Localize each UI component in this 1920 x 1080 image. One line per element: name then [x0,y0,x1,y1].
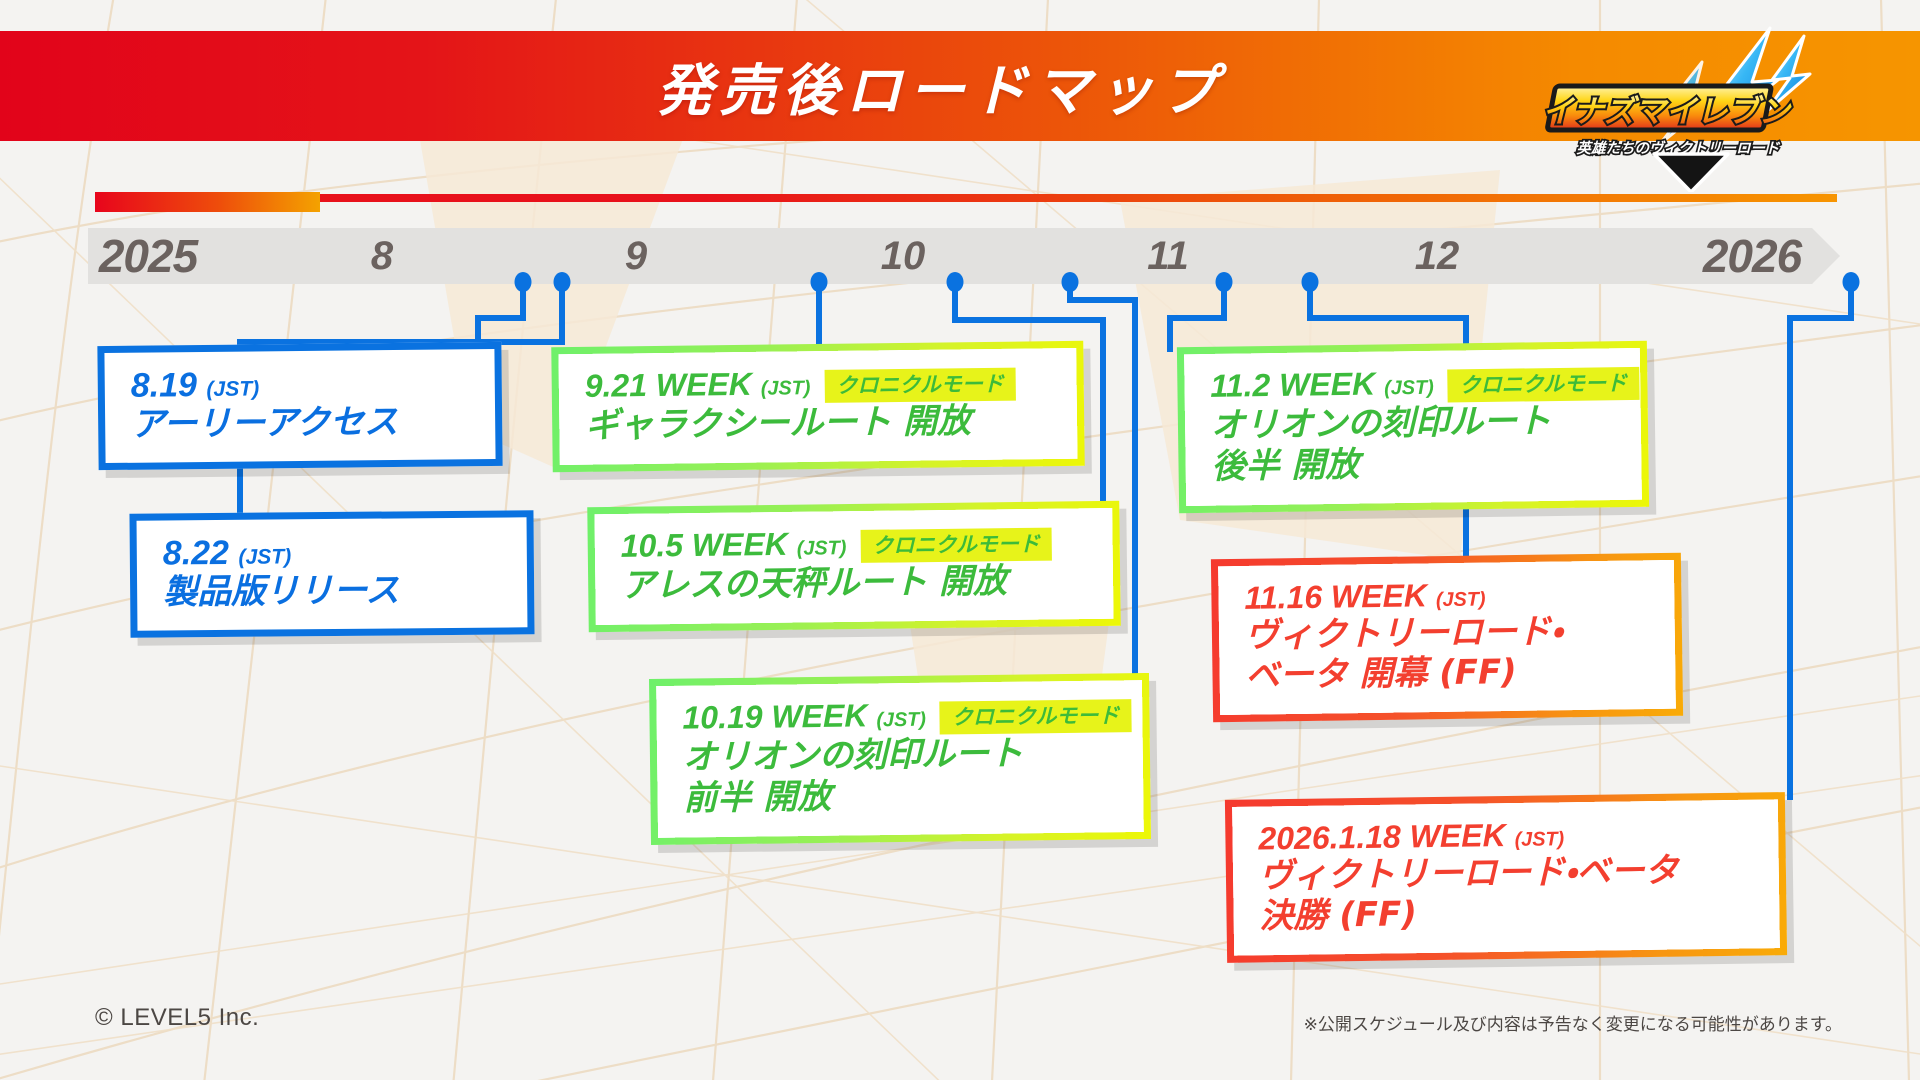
milestone-date-value: 2026.1.18 WEEK [1258,817,1506,856]
milestone-title: ヴィクトリーロード・ベータ 決勝 (FF) [1259,849,1754,937]
milestone-timezone-label: (JST) [1384,377,1434,400]
milestone-header-row: 10.5 WEEK (JST)クロニクルモード [621,524,1087,566]
milestone-timezone-label: (JST) [238,545,291,568]
chronicle-mode-badge: クロニクルモード [1447,367,1639,403]
milestone-date: 8.19 (JST) [131,367,260,404]
milestone-timezone-label: (JST) [1514,828,1564,851]
milestone-header-row: 9.21 WEEK (JST)クロニクルモード [585,364,1051,406]
axis-label-12: 12 [1415,236,1460,276]
milestone-card-orion-route-second-half: 11.2 WEEK (JST)クロニクルモードオリオンの刻印ルート 後半 開放 [1177,341,1649,513]
milestone-date: 2026.1.18 WEEK (JST) [1258,818,1564,856]
inazuma-eleven-victory-road-logo: イナズマイレブン イナズマイレブン 英雄たちのヴィクトリーロード [1542,22,1842,192]
axis-label-11: 11 [1147,236,1189,276]
axis-label-2025: 2025 [99,233,197,279]
milestone-date-value: 10.5 WEEK [621,526,789,564]
milestone-date: 9.21 WEEK (JST) [585,367,811,403]
milestone-title: ギャラクシールート 開放 [585,400,1051,446]
milestone-header-row: 11.2 WEEK (JST)クロニクルモード [1210,364,1614,406]
milestone-card-ares-route: 10.5 WEEK (JST)クロニクルモードアレスの天秤ルート 開放 [587,501,1120,633]
disclaimer-text: ※公開スケジュール及び内容は予告なく変更になる可能性があります。 [1304,1010,1842,1035]
milestone-date-value: 8.22 [163,534,230,573]
milestone-date: 8.22 (JST) [163,535,292,572]
milestone-timezone-label: (JST) [797,537,847,560]
milestone-date-value: 11.2 WEEK [1210,366,1375,404]
milestone-title: アーリーアクセス [131,401,469,445]
chronicle-mode-badge: クロニクルモード [824,368,1016,404]
accent-bar-line [95,194,1837,202]
milestone-timezone-label: (JST) [206,377,259,401]
chronicle-mode-badge: クロニクルモード [940,699,1132,735]
timeline-axis-bar [88,228,1840,284]
milestone-header-row: 11.16 WEEK (JST) [1244,576,1648,615]
milestone-date-value: 8.19 [131,366,198,405]
milestone-card-early-access: 8.19 (JST)アーリーアクセス [97,342,502,471]
milestone-date: 10.5 WEEK (JST) [621,527,847,563]
axis-label-8: 8 [371,236,393,276]
milestone-timezone-label: (JST) [876,709,926,732]
timeline-axis: 2025891011122026 [88,228,1840,284]
milestone-header-row: 8.19 (JST) [131,365,469,404]
milestone-card-victory-road-beta-open: 11.16 WEEK (JST)ヴィクトリーロード・ ベータ 開幕 (FF) [1211,553,1683,723]
milestone-date-value: 11.16 WEEK [1244,577,1427,616]
milestone-card-galaxy-route: 9.21 WEEK (JST)クロニクルモードギャラクシールート 開放 [551,341,1084,473]
milestone-date: 11.16 WEEK (JST) [1244,578,1486,615]
logo-main-text: イナズマイレブン [1542,94,1791,130]
milestone-title: ヴィクトリーロード・ ベータ 開幕 (FF) [1245,610,1650,697]
milestone-title: オリオンの刻印ルート 前半 開放 [683,733,1118,820]
chronicle-mode-badge: クロニクルモード [860,528,1052,564]
milestone-timezone-label: (JST) [761,377,811,400]
milestone-date-value: 10.19 WEEK [682,697,867,735]
milestone-date-value: 9.21 WEEK [585,366,753,404]
milestone-date: 10.19 WEEK (JST) [682,699,926,736]
milestone-header-row: 8.22 (JST) [163,534,501,573]
milestone-timezone-label: (JST) [1436,588,1486,611]
axis-label-9: 9 [625,236,647,276]
milestone-title: オリオンの刻印ルート 後半 開放 [1211,400,1616,487]
milestone-date: 11.2 WEEK (JST) [1210,367,1434,404]
copyright-text: © LEVEL5 Inc. [95,1004,259,1032]
milestone-title: 製品版リリース [163,569,501,613]
milestone-card-victory-road-beta-final: 2026.1.18 WEEK (JST)ヴィクトリーロード・ベータ 決勝 (FF… [1225,792,1787,963]
axis-label-10: 10 [881,236,926,276]
milestone-header-row: 10.19 WEEK (JST)クロニクルモード [682,696,1116,738]
milestone-card-product-release: 8.22 (JST)製品版リリース [129,510,534,638]
axis-label-2026: 2026 [1703,233,1801,279]
page-title: 発売後ロードマップ [657,46,1224,127]
accent-bar-progress [95,192,320,212]
milestone-title: アレスの天秤ルート 開放 [621,560,1087,606]
milestone-card-orion-route-first-half: 10.19 WEEK (JST)クロニクルモードオリオンの刻印ルート 前半 開放 [649,673,1151,845]
